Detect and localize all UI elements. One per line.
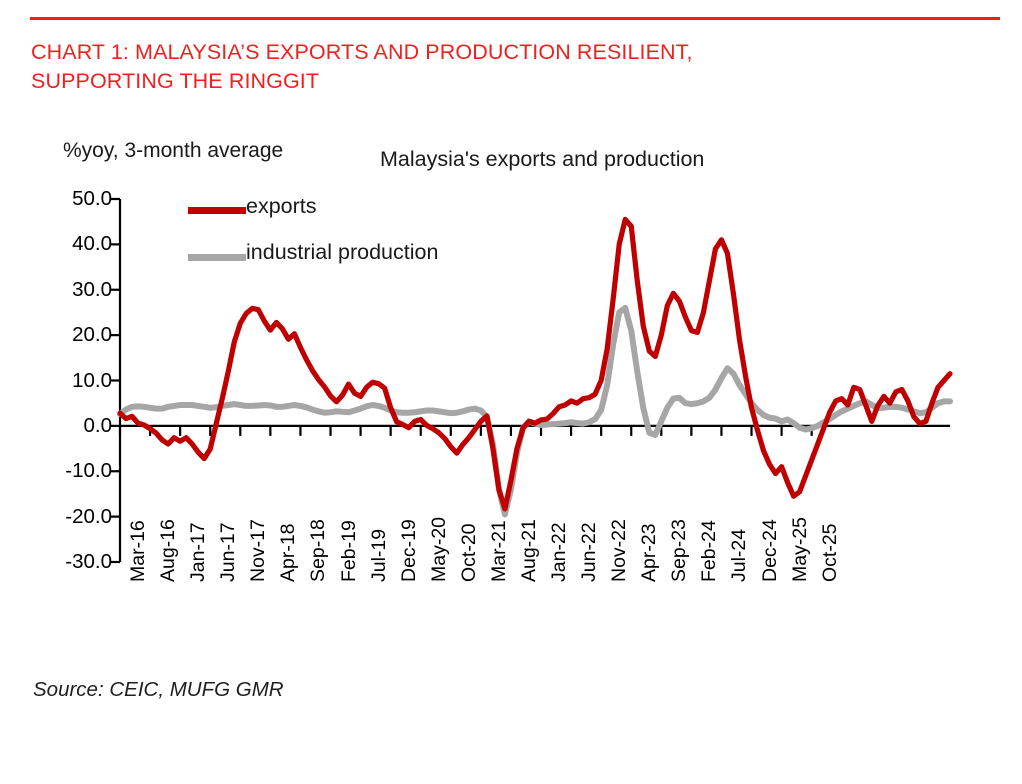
series-line-exports [120, 219, 950, 508]
series-line-industrial-production [120, 308, 950, 514]
chart-container: %yoy, 3-month average Malaysia's exports… [0, 120, 1022, 665]
header-rule [30, 17, 1000, 20]
chart-page: CHART 1: MALAYSIA’S EXPORTS AND PRODUCTI… [0, 0, 1022, 784]
plot-canvas [0, 120, 1022, 665]
source-note: Source: CEIC, MUFG GMR [33, 678, 284, 702]
page-title: CHART 1: MALAYSIA’S EXPORTS AND PRODUCTI… [31, 38, 911, 96]
